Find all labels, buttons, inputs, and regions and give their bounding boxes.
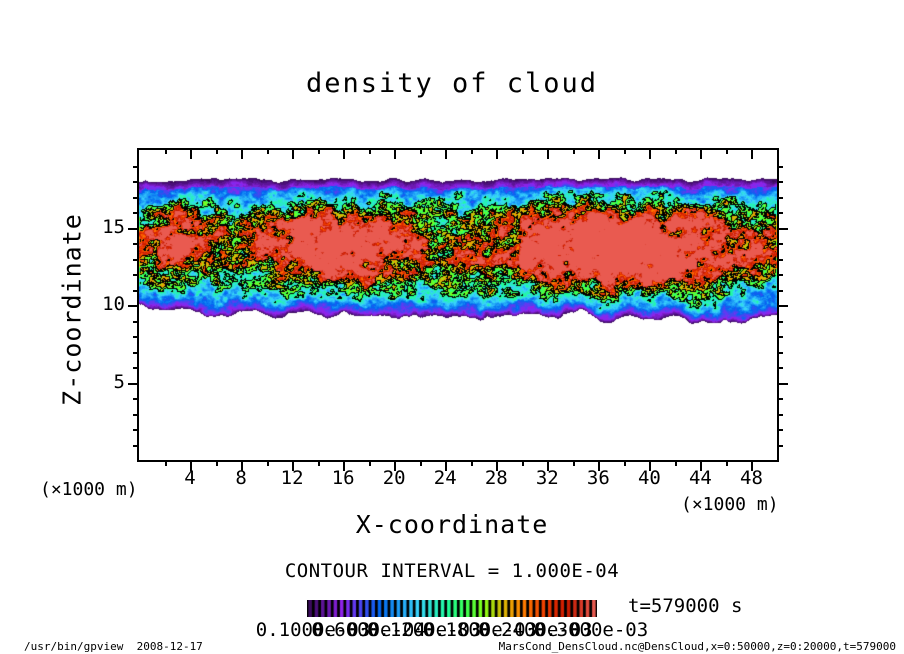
y-minor-tick (133, 398, 139, 400)
x-major-tick-top (496, 148, 498, 159)
y-minor-tick-right (777, 259, 783, 261)
y-minor-tick (133, 290, 139, 292)
y-minor-tick (133, 336, 139, 338)
x-minor-tick-top (216, 148, 218, 154)
contour-interval-label: CONTOUR INTERVAL = 1.000E-04 (0, 560, 904, 582)
x-major-tick-top (751, 148, 753, 159)
density-field-heatmap (139, 150, 777, 460)
x-major-tick-top (547, 148, 549, 159)
x-major-tick-top (700, 148, 702, 159)
y-minor-tick (133, 445, 139, 447)
x-minor-tick (675, 460, 677, 466)
x-minor-tick (267, 460, 269, 466)
y-major-tick (128, 383, 139, 385)
footer-command: /usr/bin/gpview 2008-12-17 (24, 640, 203, 653)
y-minor-tick-right (777, 197, 783, 199)
x-minor-tick (318, 460, 320, 466)
x-minor-tick-top (675, 148, 677, 154)
colorbar-gradient (307, 600, 597, 617)
y-minor-tick-right (777, 352, 783, 354)
x-minor-tick-top (624, 148, 626, 154)
y-minor-tick-right (777, 243, 783, 245)
x-minor-tick-top (267, 148, 269, 154)
y-minor-tick (133, 197, 139, 199)
y-minor-tick (133, 166, 139, 168)
y-minor-tick (133, 414, 139, 416)
x-major-tick-top (241, 148, 243, 159)
page-title: density of cloud (0, 68, 904, 99)
x-minor-tick (216, 460, 218, 466)
y-minor-tick (133, 321, 139, 323)
y-major-tick (128, 305, 139, 307)
x-minor-tick (726, 460, 728, 466)
y-minor-tick-right (777, 212, 783, 214)
gpview-figure: density of cloud 4812162024283236404448 … (0, 0, 904, 654)
x-major-tick-top (394, 148, 396, 159)
y-major-tick-right (777, 383, 788, 385)
y-minor-tick-right (777, 166, 783, 168)
x-minor-tick-top (726, 148, 728, 154)
colorbar-tick-label: 0.3000e-03 (531, 619, 651, 641)
x-major-tick-top (598, 148, 600, 159)
x-unit-label-left: (×1000 m) (40, 479, 138, 500)
y-minor-tick (133, 212, 139, 214)
y-minor-tick-right (777, 181, 783, 183)
y-minor-tick-right (777, 290, 783, 292)
y-minor-tick-right (777, 321, 783, 323)
y-minor-tick (133, 367, 139, 369)
y-minor-tick-right (777, 398, 783, 400)
y-minor-tick-right (777, 445, 783, 447)
plot-frame (137, 148, 779, 462)
x-minor-tick-top (369, 148, 371, 154)
y-minor-tick (133, 352, 139, 354)
x-minor-tick-top (318, 148, 320, 154)
x-minor-tick-top (420, 148, 422, 154)
x-major-tick-top (445, 148, 447, 159)
y-minor-tick (133, 274, 139, 276)
y-minor-tick-right (777, 336, 783, 338)
x-minor-tick-top (165, 148, 167, 154)
x-minor-tick-top (471, 148, 473, 154)
y-minor-tick-right (777, 429, 783, 431)
x-tick-label: 48 (721, 467, 781, 489)
y-major-tick (128, 228, 139, 230)
y-minor-tick-right (777, 274, 783, 276)
x-minor-tick (573, 460, 575, 466)
x-major-tick-top (190, 148, 192, 159)
y-axis-title: Z-coordinate (58, 200, 87, 420)
colorbar (307, 600, 597, 617)
x-major-tick-top (292, 148, 294, 159)
footer-dataset: MarsCond_DensCloud.nc@DensCloud,x=0:5000… (499, 640, 896, 653)
y-minor-tick (133, 181, 139, 183)
time-label: t=579000 s (628, 595, 742, 617)
x-minor-tick (522, 460, 524, 466)
x-minor-tick (369, 460, 371, 466)
x-minor-tick (165, 460, 167, 466)
x-major-tick-top (649, 148, 651, 159)
x-minor-tick (420, 460, 422, 466)
y-minor-tick-right (777, 414, 783, 416)
x-minor-tick-top (522, 148, 524, 154)
y-minor-tick (133, 429, 139, 431)
x-minor-tick (624, 460, 626, 466)
y-minor-tick (133, 243, 139, 245)
y-minor-tick-right (777, 367, 783, 369)
y-minor-tick (133, 259, 139, 261)
x-unit-label-right: (×1000 m) (681, 494, 779, 515)
y-major-tick-right (777, 228, 788, 230)
x-minor-tick-top (573, 148, 575, 154)
x-minor-tick (471, 460, 473, 466)
x-major-tick-top (343, 148, 345, 159)
y-major-tick-right (777, 305, 788, 307)
